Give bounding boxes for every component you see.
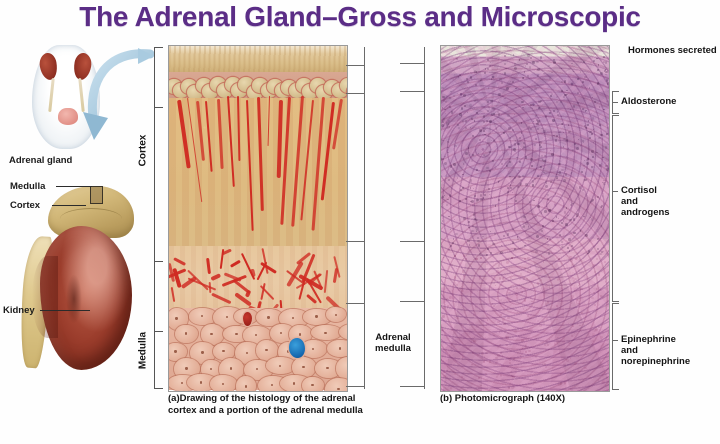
micrograph-nucleus	[584, 160, 585, 161]
micrograph-nucleus	[559, 171, 562, 174]
cell-nucleus	[299, 333, 301, 335]
zone-medulla	[169, 308, 347, 390]
micrograph-nucleus	[477, 291, 478, 292]
micrograph-nucleus	[452, 371, 454, 373]
micrograph-nucleus	[529, 201, 530, 202]
micrograph-nucleus	[607, 362, 609, 364]
micrograph-nucleus	[451, 264, 453, 266]
micrograph-nucleus	[454, 219, 455, 220]
label-epinephrine-norepinephrine: Epinephrine and norepinephrine	[621, 334, 690, 367]
micrograph-nucleus	[511, 375, 513, 377]
micrograph-nucleus	[478, 244, 480, 246]
micrograph-nucleus	[498, 113, 500, 115]
micrograph-nucleus	[471, 230, 474, 233]
micrograph-nucleus	[543, 261, 545, 263]
cell-nucleus	[201, 351, 203, 353]
micrograph-nucleus	[563, 146, 564, 147]
micrograph-nucleus	[535, 216, 537, 218]
cell-nucleus	[222, 383, 224, 385]
micrograph-nucleus	[603, 276, 605, 278]
vertical-label-medulla: Medulla	[138, 324, 149, 378]
kidney-cleft	[66, 274, 82, 324]
micrograph-nucleus	[508, 206, 510, 208]
micrograph-nucleus	[447, 199, 449, 201]
micrograph-nucleus	[569, 345, 570, 346]
micrograph-nucleus	[483, 197, 485, 199]
micrograph-nucleus	[537, 74, 540, 77]
micrograph-nucleus	[520, 288, 522, 290]
micrograph-nucleus	[455, 233, 457, 235]
micrograph-nucleus	[501, 245, 502, 246]
micrograph-nucleus	[556, 101, 558, 103]
micrograph-nucleus	[508, 387, 511, 390]
micrograph-nucleus	[523, 87, 525, 89]
micrograph-nucleus	[517, 143, 520, 146]
micrograph-nucleus	[565, 223, 568, 226]
micrograph-nucleus	[508, 292, 510, 294]
cell-nucleus	[271, 384, 273, 386]
micrograph-nucleus	[546, 206, 548, 208]
micrograph-nucleus	[554, 343, 556, 345]
sinusoid	[217, 99, 224, 169]
micrograph-nucleus	[579, 325, 580, 326]
micrograph-nucleus	[526, 278, 528, 280]
micrograph-nucleus	[492, 160, 494, 162]
bracket-aldosterone-bottom	[612, 113, 619, 114]
micrograph-nucleus	[596, 152, 598, 154]
micrograph-nucleus	[511, 198, 512, 199]
cell-nucleus	[201, 315, 203, 317]
micrograph-nucleus	[519, 137, 521, 139]
micrograph-nucleus	[597, 69, 599, 71]
micrograph-nucleus	[549, 288, 550, 289]
micrograph-nucleus	[500, 314, 502, 316]
micrograph-nucleus	[596, 58, 597, 59]
micrograph-nucleus	[532, 325, 533, 326]
zone-fasciculata	[169, 98, 347, 246]
micrograph-nucleus	[483, 154, 485, 156]
micrograph-nucleus	[570, 204, 572, 206]
micrograph-nucleus	[486, 283, 487, 284]
micrograph-nucleus	[556, 216, 557, 217]
bracket-tick-bottom	[154, 388, 163, 389]
micrograph-nucleus	[543, 160, 546, 163]
micrograph-nucleus	[544, 344, 546, 346]
micrograph-nucleus	[556, 96, 558, 98]
micrograph-nucleus	[525, 183, 528, 186]
micrograph-nucleus	[568, 131, 570, 133]
micrograph-nucleus	[485, 337, 486, 338]
micrograph-nucleus	[487, 142, 489, 144]
micrograph-nucleus	[462, 174, 464, 176]
micrograph-nucleus	[458, 76, 460, 78]
hormones-header: Hormones secreted	[628, 45, 717, 56]
micrograph-nucleus	[499, 277, 501, 279]
micrograph-nucleus	[571, 63, 573, 65]
micrograph-nucleus	[561, 116, 562, 117]
micrograph-nucleus	[545, 185, 547, 187]
micrograph-nucleus	[568, 186, 569, 187]
micrograph-nucleus	[599, 124, 601, 126]
bracket-tick-top	[154, 47, 163, 48]
micrograph-nucleus	[537, 175, 539, 177]
micrograph-nucleus	[505, 336, 507, 338]
micrograph-nucleus	[534, 144, 537, 147]
micrograph-nucleus	[444, 109, 446, 111]
page-title: The Adrenal Gland–Gross and Microscopic	[0, 1, 720, 33]
micrograph-nucleus	[472, 135, 474, 137]
micrograph-nucleus	[605, 288, 607, 290]
cell-nucleus	[315, 315, 317, 317]
micrograph-nucleus	[583, 216, 585, 218]
micrograph-nucleus	[596, 288, 598, 290]
micrograph-nucleus	[519, 59, 520, 60]
micrograph-nucleus	[514, 114, 515, 115]
region-of-interest-box	[90, 186, 103, 204]
micrograph-nucleus	[519, 278, 521, 280]
micrograph-nucleus	[450, 387, 452, 389]
micrograph-nucleus	[476, 228, 478, 230]
micrograph-nucleus	[511, 386, 514, 389]
medulla-cell	[325, 378, 348, 392]
micrograph-nucleus	[463, 94, 466, 97]
micrograph-nucleus	[549, 238, 551, 240]
micrograph-nucleus	[599, 304, 600, 305]
micrograph-nucleus	[454, 317, 455, 318]
micrograph-nucleus	[584, 367, 587, 370]
micrograph-nucleus	[504, 55, 506, 57]
micrograph-nucleus	[525, 65, 527, 67]
micrograph-nucleus	[487, 319, 489, 321]
micrograph-nucleus	[512, 81, 514, 83]
micrograph-nucleus	[532, 61, 535, 64]
figure-root: The Adrenal Gland–Gross and Microscopic	[0, 0, 720, 444]
zone-capsule	[169, 46, 347, 72]
micrograph-nucleus	[507, 187, 509, 189]
cell-nucleus	[256, 368, 258, 370]
micrograph-nucleus	[516, 287, 518, 289]
micrograph-nucleus	[443, 257, 444, 258]
cell-nucleus	[302, 366, 304, 368]
micrograph-nucleus	[594, 101, 596, 103]
cell-nucleus	[175, 317, 177, 319]
micrograph-nucleus	[465, 120, 468, 123]
micrograph-nucleus	[490, 62, 491, 63]
micrograph-nucleus	[462, 270, 465, 273]
micrograph-nucleus	[510, 187, 512, 189]
micrograph-nucleus	[552, 314, 554, 316]
micrograph-nucleus	[497, 321, 500, 324]
micrograph-nucleus	[507, 307, 508, 308]
micrograph-nucleus	[495, 361, 498, 364]
micrograph-nucleus	[454, 276, 457, 279]
micrograph-nucleus	[519, 161, 521, 163]
cell-nucleus	[337, 388, 339, 390]
micrograph-nucleus	[459, 113, 462, 116]
micrograph-nucleus	[461, 324, 463, 326]
micrograph-nucleus	[558, 172, 559, 173]
micrograph-nucleus	[557, 111, 559, 113]
micrograph-nucleus	[541, 230, 543, 232]
micrograph-nucleus	[540, 146, 543, 149]
micrograph-nucleus	[460, 305, 461, 306]
micrograph-nucleus	[476, 71, 477, 72]
micrograph-nucleus	[520, 179, 522, 181]
micrograph-nucleus	[443, 100, 445, 102]
cell-nucleus	[235, 333, 237, 335]
micrograph-nucleus	[525, 345, 527, 347]
micrograph-nucleus	[544, 348, 546, 350]
micrograph-nucleus	[592, 156, 594, 158]
micrograph-nucleus	[453, 163, 456, 166]
micrograph-nucleus	[456, 268, 457, 269]
micrograph-nucleus	[514, 143, 516, 145]
micrograph-nucleus	[547, 238, 548, 239]
micrograph-nucleus	[574, 290, 575, 291]
micrograph-nucleus	[578, 139, 579, 140]
micrograph-nucleus	[501, 163, 503, 165]
micrograph-nucleus	[514, 63, 517, 66]
micrograph-nucleus	[445, 113, 446, 114]
micrograph-nucleus	[551, 153, 554, 156]
micrograph-nucleus	[453, 238, 455, 240]
micrograph-nucleus	[524, 245, 526, 247]
label-adrenal-gland: Adrenal gland	[9, 155, 72, 166]
micrograph-nucleus	[537, 128, 539, 130]
sinusoid	[196, 101, 205, 161]
micrograph-nucleus	[599, 281, 600, 282]
micrograph-nucleus	[475, 258, 477, 260]
tick-reticularis-a	[346, 303, 364, 304]
micrograph-nucleus	[484, 299, 486, 301]
micrograph-nucleus	[571, 301, 574, 304]
micrograph-nucleus	[523, 277, 525, 279]
micrograph-nucleus	[504, 72, 506, 74]
micrograph-nucleus	[597, 238, 599, 240]
micrograph-nucleus	[463, 163, 465, 165]
cortex-medulla-bracket: Cortex Medulla	[132, 45, 166, 391]
micrograph-nucleus	[540, 166, 542, 168]
micrograph-nucleus	[509, 382, 511, 384]
micrograph-nucleus	[484, 277, 487, 280]
micrograph-nucleus	[450, 91, 452, 93]
micrograph-nucleus	[489, 65, 491, 67]
micrograph-nucleus	[547, 198, 549, 200]
micrograph-nucleus	[558, 218, 560, 220]
micrograph-nucleus	[550, 181, 552, 183]
micrograph-nucleus	[471, 383, 473, 385]
micrograph-nucleus	[573, 280, 575, 282]
micrograph-nucleus	[570, 357, 572, 359]
micrograph-nucleus	[507, 191, 509, 193]
micrograph-nucleus	[594, 329, 597, 332]
micrograph-nucleus	[591, 218, 593, 220]
micrograph-nucleus	[528, 350, 530, 352]
caption-panel-a: (a)Drawing of the histology of the adren…	[168, 393, 364, 416]
micrograph-nucleus	[597, 123, 599, 125]
micrograph-nucleus	[561, 68, 562, 69]
micrograph-nucleus	[449, 126, 450, 127]
tick-fasciculata-a	[346, 241, 364, 242]
micrograph-nucleus	[523, 77, 524, 78]
micrograph-nucleus	[571, 172, 572, 173]
micrograph-nucleus	[503, 132, 504, 133]
micrograph-nucleus	[517, 236, 519, 238]
micrograph-nucleus	[593, 292, 595, 294]
micrograph-nucleus	[557, 278, 559, 280]
micrograph-nucleus	[568, 124, 570, 126]
caption-panel-b: (b) Photomicrograph (140X)	[440, 393, 630, 405]
micrograph-nucleus	[580, 230, 582, 232]
micrograph-nucleus	[493, 335, 494, 336]
leader-medulla	[56, 186, 92, 187]
micrograph-nucleus	[495, 357, 497, 359]
sinusoid-branch	[211, 273, 221, 280]
cell-nucleus	[210, 333, 212, 335]
micrograph-nucleus	[570, 109, 571, 110]
micrograph-nucleus	[563, 96, 566, 99]
micrograph-nucleus	[484, 194, 486, 196]
micrograph-nucleus	[569, 250, 570, 251]
micrograph-nucleus	[520, 351, 521, 352]
micrograph-nucleus	[474, 364, 476, 366]
micrograph-nucleus	[520, 183, 522, 185]
micrograph-nucleus	[467, 81, 469, 83]
tick-fasciculata-b	[400, 241, 424, 242]
sinusoid-branch	[171, 287, 175, 302]
micrograph-nucleus	[568, 342, 571, 345]
micrograph-nucleus	[495, 285, 496, 286]
micrograph-nucleus	[574, 362, 577, 365]
hormones-secreted-bracket: Hormones secreted Aldosterone Cortisol a…	[612, 45, 720, 395]
sinusoid-branch	[211, 293, 231, 304]
micrograph-nucleus	[578, 371, 581, 374]
micrograph-nucleus	[502, 355, 504, 357]
cell-nucleus	[185, 332, 187, 334]
micrograph-nucleus	[489, 194, 491, 196]
tick-glomerulosa-b	[400, 91, 424, 92]
micrograph-nucleus	[549, 77, 552, 80]
micrograph-nucleus	[458, 281, 460, 283]
medulla-cell	[175, 325, 198, 344]
medulla-cell	[326, 307, 346, 322]
micrograph-nucleus	[546, 333, 548, 335]
micrograph-nucleus	[535, 250, 538, 253]
micrograph-nucleus	[486, 323, 488, 325]
micrograph-nucleus	[485, 191, 486, 192]
micrograph-nucleus	[601, 225, 603, 227]
sinusoid-branch	[324, 270, 328, 293]
micrograph-nucleus	[496, 128, 497, 129]
micrograph-nucleus	[550, 150, 551, 151]
micrograph-nucleus	[596, 258, 598, 260]
micrograph-nucleus	[493, 113, 495, 115]
micrograph-nucleus	[585, 111, 586, 112]
micrograph-nucleus	[489, 151, 490, 152]
micrograph-nucleus	[592, 340, 594, 342]
micrograph-nucleus	[501, 284, 503, 286]
cell-nucleus	[230, 367, 232, 369]
cell-nucleus	[185, 367, 187, 369]
micrograph-nucleus	[546, 341, 548, 343]
micrograph-nucleus	[538, 107, 540, 109]
micrograph-nucleus	[508, 146, 511, 149]
cell-nucleus	[280, 332, 282, 334]
micrograph-nucleus	[451, 111, 454, 114]
micrograph-nucleus	[515, 140, 517, 142]
micrograph-nucleus	[454, 74, 455, 75]
micrograph-nucleus	[554, 327, 555, 328]
micrograph-nucleus	[537, 205, 540, 208]
micrograph-nucleus	[499, 344, 501, 346]
micrograph-nucleus	[562, 123, 563, 124]
micrograph-nucleus	[539, 144, 541, 146]
micrograph-nucleus	[499, 222, 501, 224]
micrograph-nucleus	[514, 151, 515, 152]
micrograph-nucleus	[504, 98, 506, 100]
micrograph-nucleus	[483, 121, 485, 123]
micrograph-nucleus	[504, 331, 506, 333]
micrograph-nucleus	[569, 219, 571, 221]
micrograph-nucleus	[538, 133, 539, 134]
micrograph-nucleus	[487, 59, 489, 61]
kidney-large	[40, 226, 132, 370]
micrograph-nucleus	[605, 306, 606, 307]
micrograph-nucleus	[520, 148, 521, 149]
micrograph-nucleus	[544, 210, 547, 213]
micrograph-nucleus	[500, 374, 502, 376]
micrograph-nucleus	[505, 68, 507, 70]
micrograph-nucleus	[509, 176, 511, 178]
micrograph-nucleus	[467, 112, 468, 113]
micrograph-nucleus	[464, 105, 465, 106]
micrograph-nucleus	[533, 286, 534, 287]
micrograph-nucleus	[591, 350, 593, 352]
micrograph-nucleus	[548, 209, 551, 212]
tick-glomerulosa-a	[346, 93, 364, 94]
cell-nucleus	[174, 350, 176, 352]
micrograph-nucleus	[560, 101, 562, 103]
micrograph-nucleus	[599, 253, 601, 255]
micrograph-nucleus	[582, 189, 584, 191]
micrograph-nucleus	[560, 373, 562, 375]
micrograph-nucleus	[521, 122, 523, 124]
micrograph-nucleus	[589, 87, 590, 88]
micrograph-nucleus	[481, 352, 484, 355]
micrograph-nucleus	[512, 192, 513, 193]
micrograph-nucleus	[472, 154, 474, 156]
micrograph-nucleus	[442, 96, 444, 98]
micrograph-nucleus	[481, 347, 482, 348]
micrograph-nucleus	[499, 78, 502, 81]
micrograph-grain	[441, 46, 609, 391]
micrograph-nucleus	[474, 100, 476, 102]
micrograph-nucleus	[529, 66, 532, 69]
micrograph-nucleus	[555, 193, 557, 195]
micrograph-nucleus	[605, 146, 608, 149]
micrograph-nucleus	[454, 145, 456, 147]
micrograph-nucleus	[442, 121, 444, 123]
micrograph-nucleus	[470, 264, 471, 265]
micrograph-nucleus	[545, 115, 547, 117]
micrograph-nucleus	[465, 152, 468, 155]
micrograph-nucleus	[499, 331, 501, 333]
micrograph-nucleus	[515, 88, 517, 90]
micrograph-nucleus	[507, 349, 508, 350]
micrograph-nucleus	[547, 194, 549, 196]
micrograph-nucleus	[476, 169, 477, 170]
micrograph-nucleus	[603, 182, 606, 185]
